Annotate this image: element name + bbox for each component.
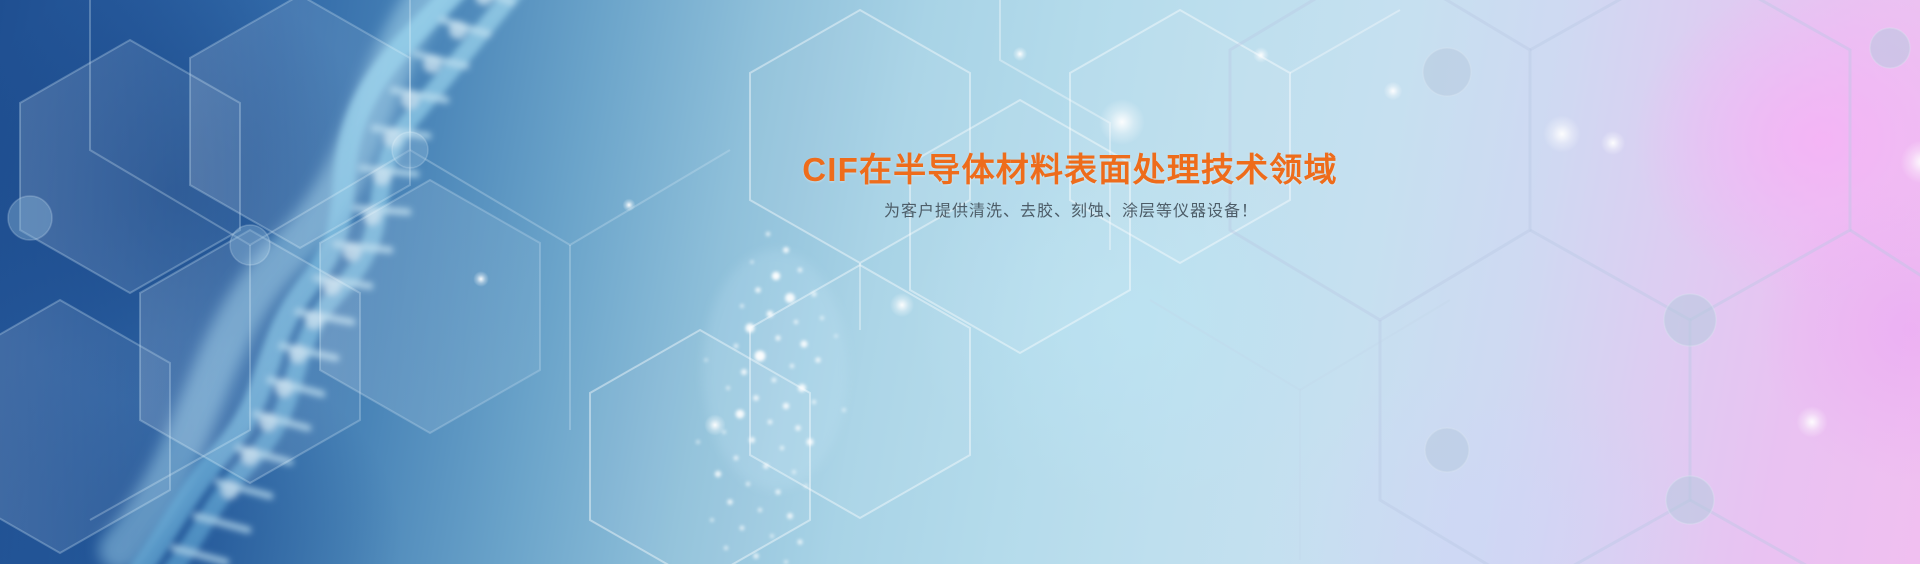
banner-headline: CIF在半导体材料表面处理技术领域	[0, 150, 1920, 190]
hero-banner: CIF在半导体材料表面处理技术领域 为客户提供清洗、去胶、刻蚀、涂层等仪器设备！	[0, 0, 1920, 564]
banner-subline: 为客户提供清洗、去胶、刻蚀、涂层等仪器设备！	[0, 200, 1920, 224]
banner-copy: CIF在半导体材料表面处理技术领域 为客户提供清洗、去胶、刻蚀、涂层等仪器设备！	[0, 0, 1920, 564]
